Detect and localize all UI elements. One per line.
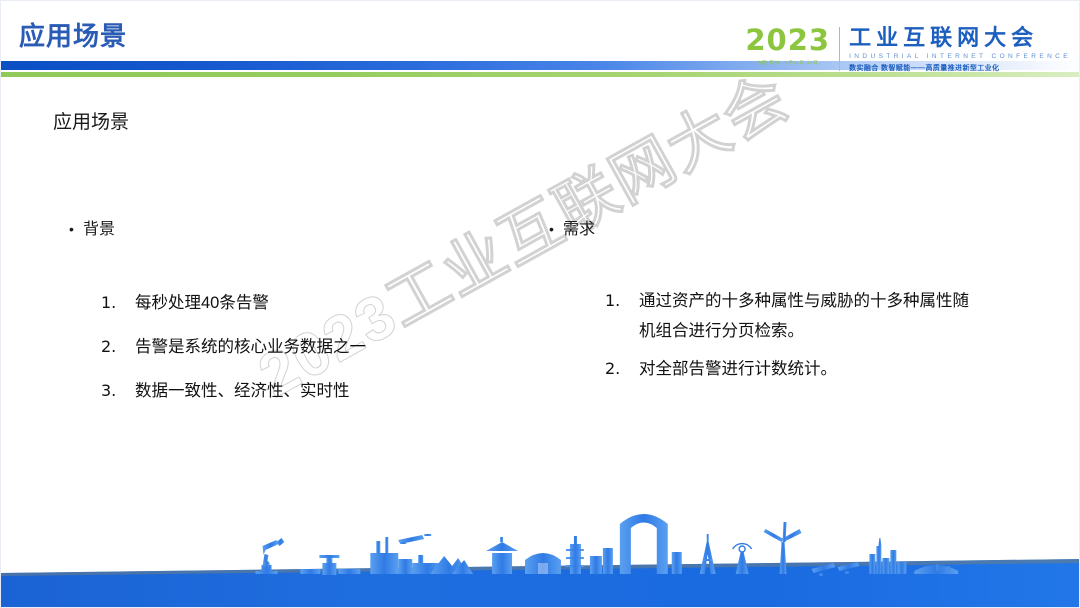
- slide: 应用场景 2023 中国·苏州 · 9月11日-13日 工业互联网大会 INDU…: [0, 0, 1080, 608]
- bullet-dot-icon: •: [549, 217, 563, 241]
- column-requirements: • 需求 1. 通过资产的十多种属性与威胁的十多种属性随机组合进行分页检索。 2…: [549, 217, 979, 392]
- list-item-marker: 1.: [605, 286, 639, 316]
- list-item-text: 数据一致性、经济性、实时性: [135, 376, 509, 406]
- logo-year-block: 2023 中国·苏州 · 9月11日-13日: [745, 25, 839, 67]
- skyline-shapes: [256, 514, 959, 576]
- list-item-text: 告警是系统的核心业务数据之一: [135, 332, 509, 362]
- bullet-heading-label: 背景: [83, 218, 115, 242]
- list-item-text: 每秒处理40条告警: [135, 288, 509, 318]
- list-item: 1. 通过资产的十多种属性与威胁的十多种属性随机组合进行分页检索。: [605, 286, 979, 346]
- list-item-text: 通过资产的十多种属性与威胁的十多种属性随机组合进行分页检索。: [639, 286, 979, 346]
- bullet-heading-background: • 背景: [69, 217, 509, 242]
- footer-decoration: [1, 511, 1079, 607]
- list-background: 1. 每秒处理40条告警 2. 告警是系统的核心业务数据之一 3. 数据一致性、…: [101, 288, 509, 406]
- list-item-marker: 1.: [101, 288, 135, 318]
- skyline-graphic: [1, 511, 1079, 607]
- slide-header: 应用场景 2023 中国·苏州 · 9月11日-13日 工业互联网大会 INDU…: [1, 1, 1079, 81]
- list-requirements: 1. 通过资产的十多种属性与威胁的十多种属性随机组合进行分页检索。 2. 对全部…: [605, 286, 979, 384]
- logo-title-en: INDUSTRIAL INTERNET CONFERENCE: [849, 52, 1071, 62]
- list-item: 2. 对全部告警进行计数统计。: [605, 354, 979, 384]
- logo-slogan: 数实融合 数智赋能——高质量推进新型工业化: [849, 63, 1071, 74]
- bullet-heading-label: 需求: [563, 218, 595, 242]
- content-heading: 应用场景: [53, 109, 129, 137]
- logo-year: 2023: [745, 25, 830, 56]
- list-item-marker: 2.: [605, 354, 639, 384]
- logo-year-subtitle: 中国·苏州 · 9月11日-13日: [757, 59, 819, 67]
- list-item: 2. 告警是系统的核心业务数据之一: [101, 332, 509, 362]
- page-title: 应用场景: [19, 19, 127, 53]
- logo-text-block: 工业互联网大会 INDUSTRIAL INTERNET CONFERENCE 数…: [840, 25, 1071, 74]
- conference-logo: 2023 中国·苏州 · 9月11日-13日 工业互联网大会 INDUSTRIA…: [745, 25, 1071, 77]
- column-background: • 背景 1. 每秒处理40条告警 2. 告警是系统的核心业务数据之一 3. 数…: [69, 217, 509, 420]
- list-item-text: 对全部告警进行计数统计。: [639, 354, 979, 384]
- bullet-dot-icon: •: [69, 217, 83, 241]
- list-item: 1. 每秒处理40条告警: [101, 288, 509, 318]
- logo-title-cn: 工业互联网大会: [849, 25, 1071, 51]
- list-item: 3. 数据一致性、经济性、实时性: [101, 376, 509, 406]
- list-item-marker: 3.: [101, 376, 135, 406]
- bullet-heading-requirements: • 需求: [549, 217, 979, 242]
- list-item-marker: 2.: [101, 332, 135, 362]
